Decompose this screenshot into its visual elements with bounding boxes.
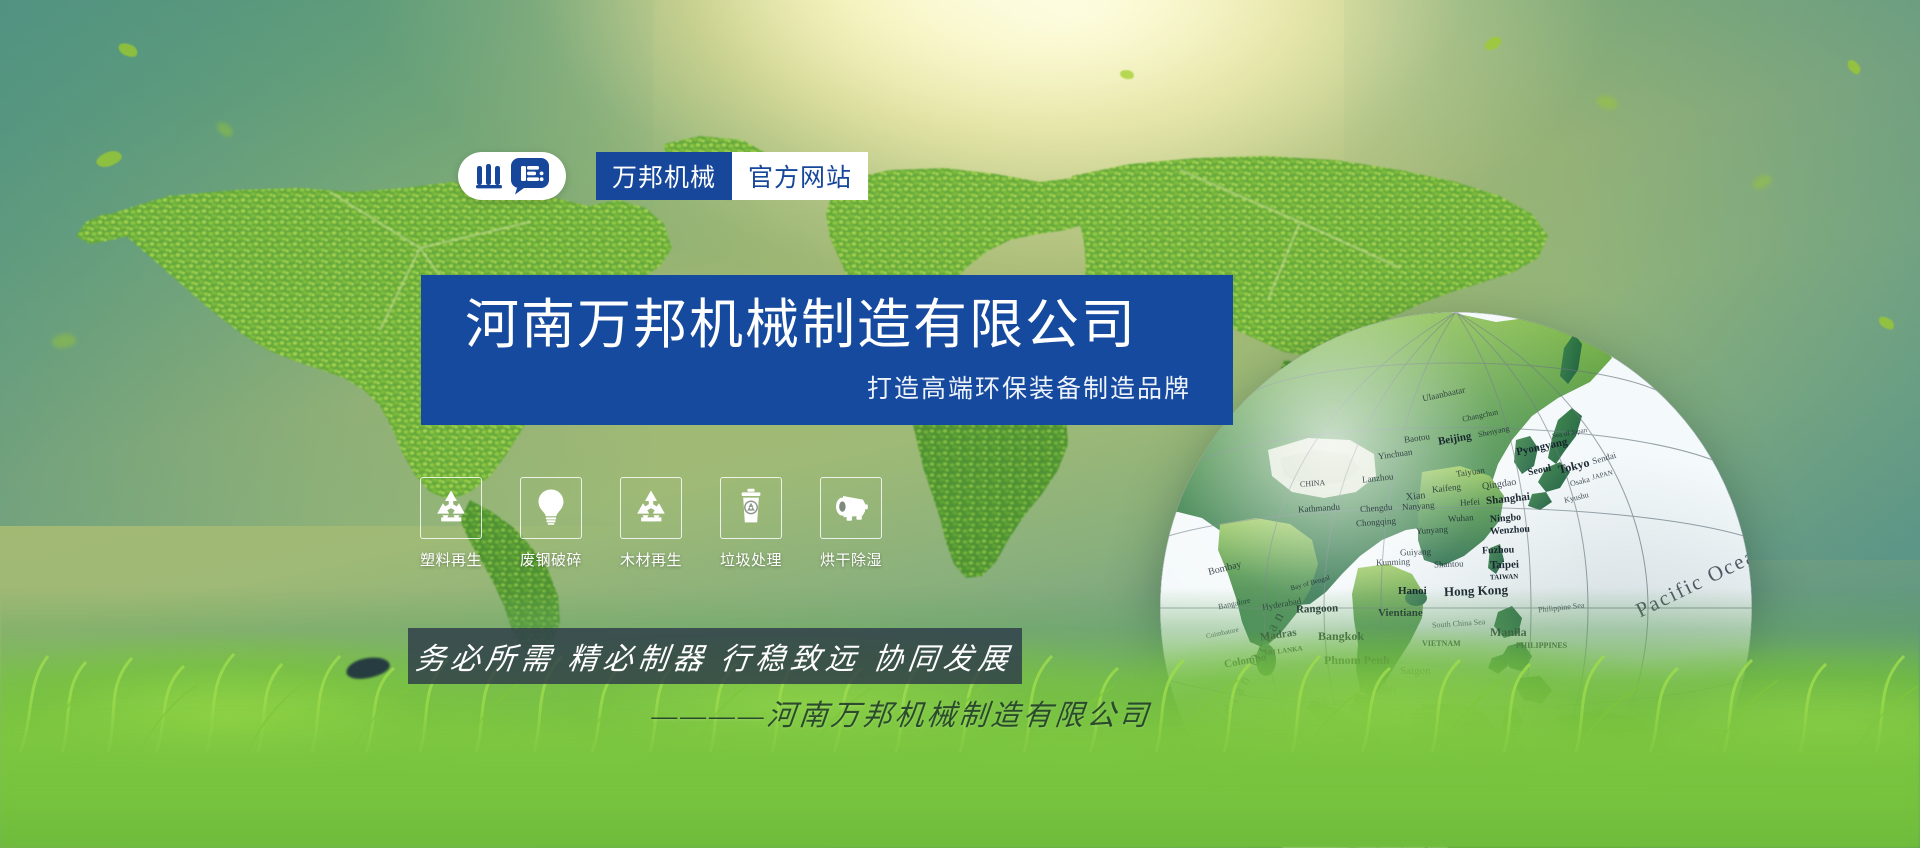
- recycle-icon: [432, 487, 470, 530]
- slogan-banner: 务必所需 精必制器 行稳致远 协同发展: [408, 628, 1022, 684]
- hero-banner: Pacific OceanIndian OceanSouth China Sea…: [0, 0, 1920, 848]
- tab-company-name[interactable]: 万邦机械: [596, 152, 732, 200]
- logo[interactable]: [458, 152, 566, 200]
- trash-bin-icon: [732, 487, 770, 530]
- page-title: 河南万邦机械制造有限公司: [465, 295, 1191, 354]
- service-item-wood-recycling[interactable]: 木材再生: [620, 477, 682, 570]
- service-icon-box: [420, 477, 482, 539]
- service-item-drying-dehumidify[interactable]: 烘干除湿: [820, 477, 882, 570]
- service-item-steel-crushing[interactable]: 废钢破碎: [520, 477, 582, 570]
- service-label: 木材再生: [620, 549, 682, 570]
- slogan-text: 务必所需 精必制器 行稳致远 协同发展: [414, 634, 1017, 678]
- service-item-plastic-recycling[interactable]: 塑料再生: [420, 477, 482, 570]
- service-icon-row: 塑料再生 废钢破碎: [420, 477, 882, 570]
- recycle-icon: [632, 487, 670, 530]
- slogan-signature: ————河南万邦机械制造有限公司: [650, 692, 1154, 734]
- service-item-waste-treatment[interactable]: 垃圾处理: [720, 477, 782, 570]
- service-icon-box: [720, 477, 782, 539]
- brand-tabs: 万邦机械 官方网站: [596, 152, 868, 200]
- w-letter-icon: [475, 162, 505, 190]
- brand-header: 万邦机械 官方网站: [458, 152, 868, 200]
- service-label: 废钢破碎: [520, 549, 582, 570]
- service-icon-box: [620, 477, 682, 539]
- hero-title-block: 河南万邦机械制造有限公司 打造高端环保装备制造品牌: [421, 275, 1233, 425]
- service-label: 垃圾处理: [720, 549, 782, 570]
- tab-official-site[interactable]: 官方网站: [732, 152, 868, 200]
- service-label: 塑料再生: [420, 549, 482, 570]
- service-icon-box: [820, 477, 882, 539]
- page-subtitle: 打造高端环保装备制造品牌: [465, 369, 1191, 405]
- lightbulb-icon: [532, 487, 570, 530]
- service-label: 烘干除湿: [820, 549, 882, 570]
- b-speech-bubble-icon: [510, 157, 550, 195]
- dryer-drum-icon: [832, 487, 870, 530]
- service-icon-box: [520, 477, 582, 539]
